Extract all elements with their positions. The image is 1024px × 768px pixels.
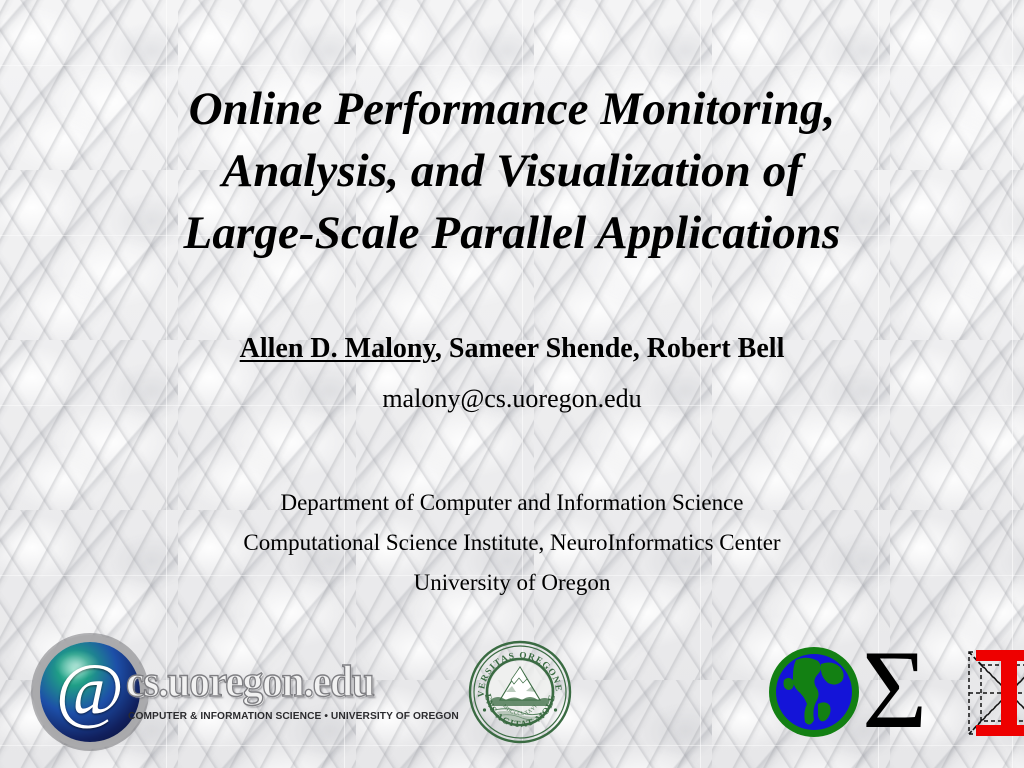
at-symbol-glyph: @ xyxy=(40,654,140,728)
globe-icon xyxy=(766,644,862,740)
cs-uoregon-logo: @ cs.uoregon.edu COMPUTER & INFORMATION … xyxy=(38,640,408,744)
author-line: Allen D. Malony, Sameer Shende, Robert B… xyxy=(0,331,1024,367)
logo-row: @ cs.uoregon.edu COMPUTER & INFORMATION … xyxy=(0,636,1024,752)
cs-url-text: cs.uoregon.edu xyxy=(126,656,374,708)
affiliation-line-3: University of Oregon xyxy=(0,563,1024,603)
pi-mesh-icon xyxy=(962,646,1024,740)
presentation-slide: Online Performance Monitoring, Analysis,… xyxy=(0,0,1024,768)
title-line-1: Online Performance Monitoring, xyxy=(60,78,964,140)
tau-logo: Σ xyxy=(766,640,994,748)
title-line-2: Analysis, and Visualization of xyxy=(60,140,964,202)
affiliation-line-2: Computational Science Institute, NeuroIn… xyxy=(0,523,1024,563)
sigma-glyph: Σ xyxy=(862,636,927,744)
affiliation-line-1: Department of Computer and Information S… xyxy=(0,483,1024,523)
university-of-oregon-seal: UNIVERSITAS OREGONENSIS MENS AGITAT MOLE… xyxy=(468,640,572,744)
coauthor-list: , Sameer Shende, Robert Bell xyxy=(435,333,784,364)
slide-content: Online Performance Monitoring, Analysis,… xyxy=(0,0,1024,768)
affiliation-block: Department of Computer and Information S… xyxy=(0,483,1024,603)
at-sphere-icon: @ xyxy=(40,642,140,742)
cs-tagline-text: COMPUTER & INFORMATION SCIENCE • UNIVERS… xyxy=(128,710,459,722)
title-line-3: Large-Scale Parallel Applications xyxy=(60,202,964,264)
slide-title: Online Performance Monitoring, Analysis,… xyxy=(60,78,964,264)
presenting-author: Allen D. Malony xyxy=(240,333,435,364)
author-email: malony@cs.uoregon.edu xyxy=(0,383,1024,415)
